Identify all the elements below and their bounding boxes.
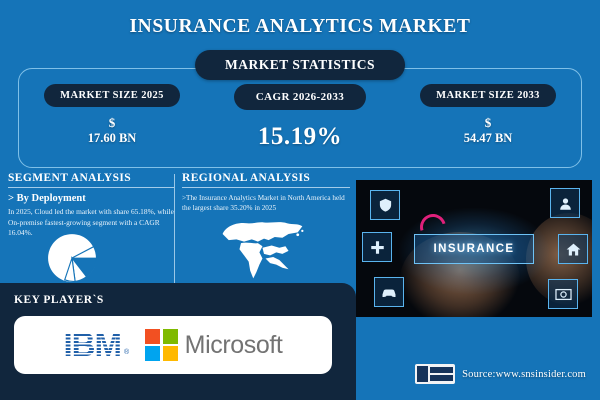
key-players-heading: KEY PLAYER`S [14, 294, 104, 306]
microsoft-squares-icon [145, 329, 178, 362]
registered-trademark-icon: ® [124, 349, 129, 360]
regional-analysis-heading: REGIONAL ANALYSIS [182, 172, 350, 184]
heading-divider [8, 187, 174, 188]
infographic-canvas: INSURANCE ANALYTICS MARKET MARKET STATIS… [0, 0, 600, 400]
heading-divider [182, 187, 350, 188]
currency-symbol: $ [18, 115, 206, 131]
page-title: INSURANCE ANALYTICS MARKET [0, 16, 600, 38]
car-icon [374, 277, 404, 307]
segment-analysis-panel: SEGMENT ANALYSIS > By Deployment In 2025… [8, 172, 174, 239]
market-statistics-title: MARKET STATISTICS [195, 50, 405, 80]
logo-wordmark [430, 367, 453, 381]
person-icon [550, 188, 580, 218]
insurance-technology-photo: INSURANCE [356, 180, 592, 317]
segment-subheading: > By Deployment [8, 193, 174, 204]
currency-symbol: $ [394, 115, 582, 131]
north-america-map-icon [218, 214, 310, 280]
stat-value: $ 17.60 BN [18, 115, 206, 147]
stat-label: MARKET SIZE 2025 [44, 84, 180, 107]
microsoft-wordmark: Microsoft [185, 331, 283, 360]
stat-market-size-2025: MARKET SIZE 2025 $ 17.60 BN [18, 84, 206, 147]
microsoft-logo: Microsoft [145, 329, 282, 362]
source-attribution: Source:www.snsinsider.com [415, 364, 586, 384]
stat-cagr: CAGR 2026-2033 15.19% [206, 84, 394, 152]
pie-chart-icon [46, 232, 98, 284]
stat-amount: 17.60 BN [88, 131, 137, 145]
source-text: Source:www.snsinsider.com [462, 369, 586, 380]
sns-insider-logo [415, 364, 455, 384]
insurance-hologram-banner: INSURANCE [414, 234, 534, 264]
regional-body-text: >The Insurance Analytics Market in North… [182, 193, 350, 213]
ibm-logo: IBM ® [64, 330, 130, 360]
shield-icon [370, 190, 400, 220]
stat-market-size-2033: MARKET SIZE 2033 $ 54.47 BN [394, 84, 582, 147]
panel-divider [174, 174, 175, 286]
segment-analysis-heading: SEGMENT ANALYSIS [8, 172, 174, 184]
key-players-logo-strip: IBM ® Microsoft [14, 316, 332, 374]
regional-analysis-panel: REGIONAL ANALYSIS >The Insurance Analyti… [182, 172, 350, 213]
logo-emblem [417, 366, 428, 382]
stat-label: CAGR 2026-2033 [234, 84, 366, 110]
ibm-wordmark: IBM [64, 330, 122, 360]
stat-value: $ 54.47 BN [394, 115, 582, 147]
house-icon [558, 234, 588, 264]
stat-amount: 54.47 BN [464, 131, 513, 145]
stat-value: 15.19% [206, 121, 394, 152]
key-players-panel: KEY PLAYER`S IBM ® Microsoft [0, 283, 356, 400]
money-icon [548, 279, 578, 309]
stat-label: MARKET SIZE 2033 [420, 84, 556, 107]
medical-cross-icon [362, 232, 392, 262]
